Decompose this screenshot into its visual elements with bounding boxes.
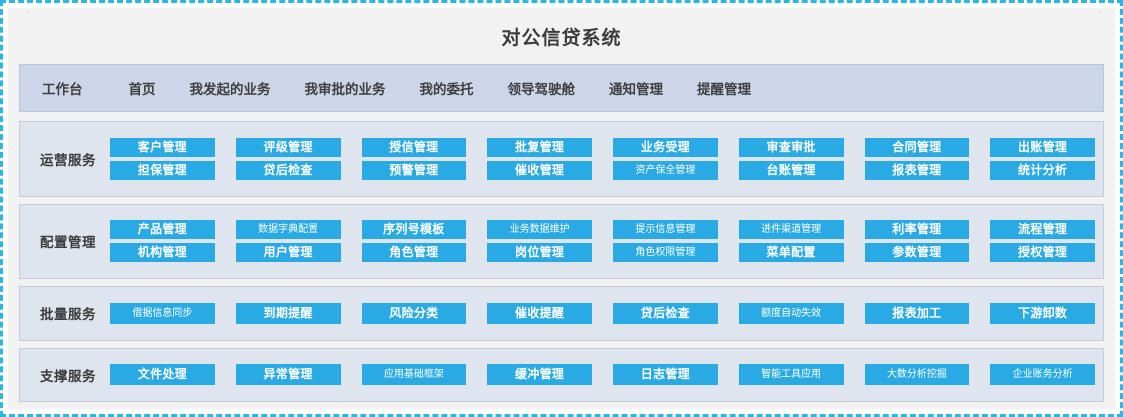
- module-tile[interactable]: 大数分析挖掘: [865, 364, 970, 385]
- module-tile[interactable]: 利率管理: [865, 220, 970, 239]
- module-tile[interactable]: 催收管理: [487, 161, 592, 180]
- module-tile[interactable]: 机构管理: [110, 243, 215, 262]
- module-tile[interactable]: 额度自动失效: [739, 303, 844, 324]
- tile-row: 担保管理贷后检查预警管理催收管理资产保全管理台账管理报表管理统计分析: [110, 161, 1095, 180]
- tile-row: 借据信息同步到期提醒风险分类催收提醒贷后检查额度自动失效报表加工下游卸数: [110, 303, 1095, 324]
- module-tile[interactable]: 授信管理: [362, 138, 467, 157]
- nav-item-2[interactable]: 我发起的业务: [190, 78, 271, 98]
- module-tile[interactable]: 担保管理: [110, 161, 215, 180]
- section-label-0: 运营服务: [26, 149, 110, 169]
- module-tile[interactable]: 应用基础框架: [362, 364, 467, 385]
- module-tile[interactable]: 智能工具应用: [739, 364, 844, 385]
- module-tile[interactable]: 日志管理: [613, 364, 718, 385]
- nav-item-7[interactable]: 提醒管理: [697, 78, 751, 98]
- section-panel-2: 批量服务借据信息同步到期提醒风险分类催收提醒贷后检查额度自动失效报表加工下游卸数: [19, 286, 1104, 341]
- nav-item-3[interactable]: 我审批的业务: [305, 78, 386, 98]
- module-tile[interactable]: 催收提醒: [487, 303, 592, 324]
- module-tile[interactable]: 进件渠道管理: [739, 220, 844, 239]
- tile-row: 文件处理异常管理应用基础框架缓冲管理日志管理智能工具应用大数分析挖掘企业账务分析: [110, 364, 1095, 385]
- module-tile[interactable]: 统计分析: [990, 161, 1095, 180]
- nav-item-1[interactable]: 首页: [129, 78, 156, 98]
- module-tile[interactable]: 岗位管理: [487, 243, 592, 262]
- section-label-2: 批量服务: [26, 303, 110, 323]
- module-tile[interactable]: 流程管理: [990, 220, 1095, 239]
- module-tile[interactable]: 授权管理: [990, 243, 1095, 262]
- module-tile[interactable]: 文件处理: [110, 364, 215, 385]
- module-tile[interactable]: 业务数据维护: [487, 220, 592, 239]
- tile-row: 客户管理评级管理授信管理批复管理业务受理审查审批合同管理出账管理: [110, 138, 1095, 157]
- top-navigation-bar: 工作台首页我发起的业务我审批的业务我的委托领导驾驶舱通知管理提醒管理: [19, 64, 1104, 112]
- module-tile[interactable]: 预警管理: [362, 161, 467, 180]
- module-tile[interactable]: 数据字典配置: [236, 220, 341, 239]
- module-tile[interactable]: 贷后检查: [613, 303, 718, 324]
- tile-row: 机构管理用户管理角色管理岗位管理角色权限管理菜单配置参数管理授权管理: [110, 243, 1095, 262]
- section-label-1: 配置管理: [26, 231, 110, 251]
- module-tile[interactable]: 企业账务分析: [990, 364, 1095, 385]
- module-tile[interactable]: 审查审批: [739, 138, 844, 157]
- nav-item-4[interactable]: 我的委托: [420, 78, 474, 98]
- module-tile[interactable]: 角色管理: [362, 243, 467, 262]
- section-panel-3: 支撑服务文件处理异常管理应用基础框架缓冲管理日志管理智能工具应用大数分析挖掘企业…: [19, 348, 1104, 403]
- module-tile[interactable]: 评级管理: [236, 138, 341, 157]
- module-tile[interactable]: 台账管理: [739, 161, 844, 180]
- application-frame: 对公信贷系统 工作台首页我发起的业务我审批的业务我的委托领导驾驶舱通知管理提醒管…: [0, 0, 1123, 417]
- module-tile[interactable]: 角色权限管理: [613, 243, 718, 262]
- module-sections: 运营服务客户管理评级管理授信管理批复管理业务受理审查审批合同管理出账管理担保管理…: [19, 121, 1104, 402]
- section-grid-0: 客户管理评级管理授信管理批复管理业务受理审查审批合同管理出账管理担保管理贷后检查…: [110, 138, 1095, 180]
- module-tile[interactable]: 下游卸数: [990, 303, 1095, 324]
- nav-item-5[interactable]: 领导驾驶舱: [508, 78, 576, 98]
- module-tile[interactable]: 菜单配置: [739, 243, 844, 262]
- module-tile[interactable]: 借据信息同步: [110, 303, 215, 324]
- page-surface: 对公信贷系统 工作台首页我发起的业务我审批的业务我的委托领导驾驶舱通知管理提醒管…: [8, 8, 1115, 409]
- section-grid-2: 借据信息同步到期提醒风险分类催收提醒贷后检查额度自动失效报表加工下游卸数: [110, 303, 1095, 324]
- page-title: 对公信贷系统: [19, 17, 1104, 64]
- module-tile[interactable]: 参数管理: [865, 243, 970, 262]
- module-tile[interactable]: 提示信息管理: [613, 220, 718, 239]
- module-tile[interactable]: 报表加工: [865, 303, 970, 324]
- section-panel-1: 配置管理产品管理数据字典配置序列号模板业务数据维护提示信息管理进件渠道管理利率管…: [19, 204, 1104, 280]
- tile-row: 产品管理数据字典配置序列号模板业务数据维护提示信息管理进件渠道管理利率管理流程管…: [110, 220, 1095, 239]
- module-tile[interactable]: 资产保全管理: [613, 161, 718, 180]
- module-tile[interactable]: 批复管理: [487, 138, 592, 157]
- module-tile[interactable]: 报表管理: [865, 161, 970, 180]
- module-tile[interactable]: 合同管理: [865, 138, 970, 157]
- section-panel-0: 运营服务客户管理评级管理授信管理批复管理业务受理审查审批合同管理出账管理担保管理…: [19, 121, 1104, 197]
- module-tile[interactable]: 贷后检查: [236, 161, 341, 180]
- section-grid-3: 文件处理异常管理应用基础框架缓冲管理日志管理智能工具应用大数分析挖掘企业账务分析: [110, 364, 1095, 385]
- module-tile[interactable]: 缓冲管理: [487, 364, 592, 385]
- nav-item-0[interactable]: 工作台: [42, 78, 83, 98]
- section-grid-1: 产品管理数据字典配置序列号模板业务数据维护提示信息管理进件渠道管理利率管理流程管…: [110, 220, 1095, 262]
- module-tile[interactable]: 风险分类: [362, 303, 467, 324]
- module-tile[interactable]: 出账管理: [990, 138, 1095, 157]
- module-tile[interactable]: 产品管理: [110, 220, 215, 239]
- module-tile[interactable]: 到期提醒: [236, 303, 341, 324]
- module-tile[interactable]: 序列号模板: [362, 220, 467, 239]
- module-tile[interactable]: 用户管理: [236, 243, 341, 262]
- module-tile[interactable]: 客户管理: [110, 138, 215, 157]
- module-tile[interactable]: 业务受理: [613, 138, 718, 157]
- nav-item-6[interactable]: 通知管理: [609, 78, 663, 98]
- module-tile[interactable]: 异常管理: [236, 364, 341, 385]
- section-label-3: 支撑服务: [26, 365, 110, 385]
